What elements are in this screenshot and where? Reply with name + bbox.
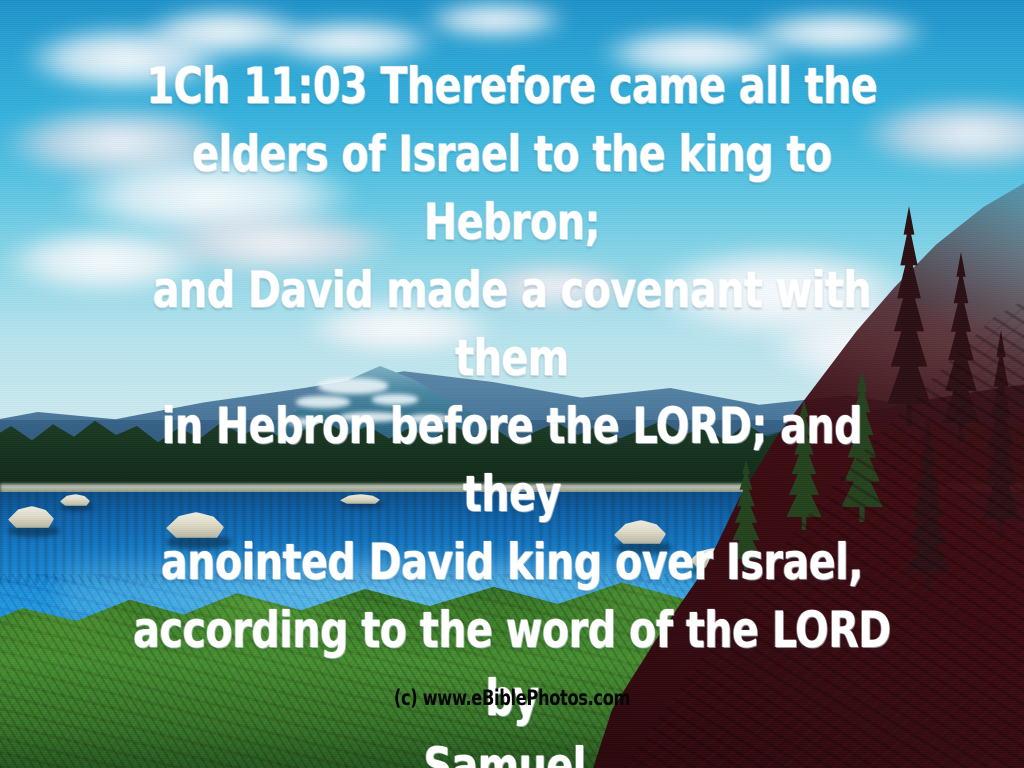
cloud xyxy=(300,300,500,356)
snow-patch xyxy=(296,396,350,408)
watermark-credit: (c) www.eBiblePhotos.com xyxy=(72,688,953,709)
background-photograph xyxy=(0,0,1024,768)
snow-patch xyxy=(408,414,448,423)
snow-patch xyxy=(318,378,388,394)
cloud xyxy=(470,262,640,310)
snow-patch xyxy=(340,412,402,422)
snow-patch xyxy=(372,394,418,405)
scripture-image: 1Ch 11:03 Therefore came all the elders … xyxy=(0,0,1024,768)
cloud xyxy=(150,212,400,276)
cloud xyxy=(420,0,570,40)
cloud xyxy=(260,18,440,66)
cloud xyxy=(742,10,932,56)
